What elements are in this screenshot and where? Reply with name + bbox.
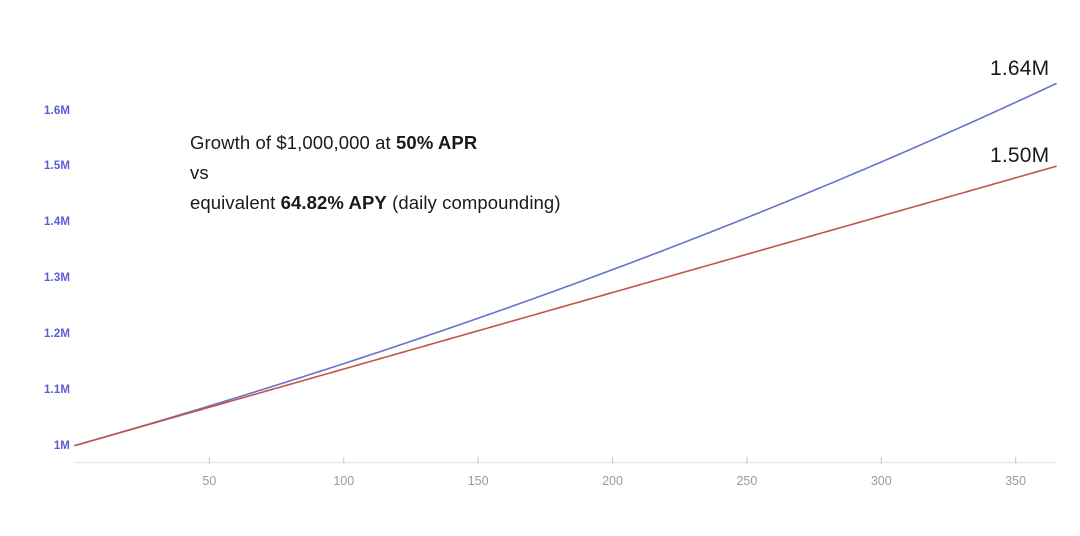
y-axis-tick-label: 1M (18, 440, 70, 452)
chart-title-text: Growth of $1,000,000 at (190, 132, 396, 153)
x-axis-tick-label: 50 (179, 474, 239, 488)
x-axis-tick-label: 100 (314, 474, 374, 488)
x-axis-tick-label: 150 (448, 474, 508, 488)
chart-plot-area (0, 0, 1080, 536)
x-axis-tick-label: 350 (986, 474, 1046, 488)
y-axis-tick-label: 1.2M (18, 328, 70, 340)
chart-title-text: equivalent (190, 192, 281, 213)
y-axis-tick-label: 1.6M (18, 105, 70, 117)
y-axis-tick-label: 1.3M (18, 272, 70, 284)
chart-title-line: vs (190, 158, 561, 188)
chart-title-line: equivalent 64.82% APY (daily compounding… (190, 188, 561, 218)
series-end-label-apr: 1.50M (990, 144, 1049, 168)
x-axis-tick-label: 200 (583, 474, 643, 488)
chart-title-emphasis: 64.82% APY (281, 192, 387, 213)
x-axis-tick-label: 250 (717, 474, 777, 488)
chart-title-text: (daily compounding) (387, 192, 561, 213)
y-axis-tick-label: 1.1M (18, 384, 70, 396)
y-axis-tick-label: 1.5M (18, 160, 70, 172)
series-end-label-apy: 1.64M (990, 57, 1049, 81)
x-axis-tick-label: 300 (851, 474, 911, 488)
chart-title-emphasis: 50% APR (396, 132, 477, 153)
y-axis-tick-label: 1.4M (18, 216, 70, 228)
chart-title-line: Growth of $1,000,000 at 50% APR (190, 128, 561, 158)
chart-container: 1M1.1M1.2M1.3M1.4M1.5M1.6M 5010015020025… (0, 0, 1080, 536)
chart-title-annotation: Growth of $1,000,000 at 50% APRvsequival… (190, 128, 561, 218)
chart-title-text: vs (190, 162, 209, 183)
